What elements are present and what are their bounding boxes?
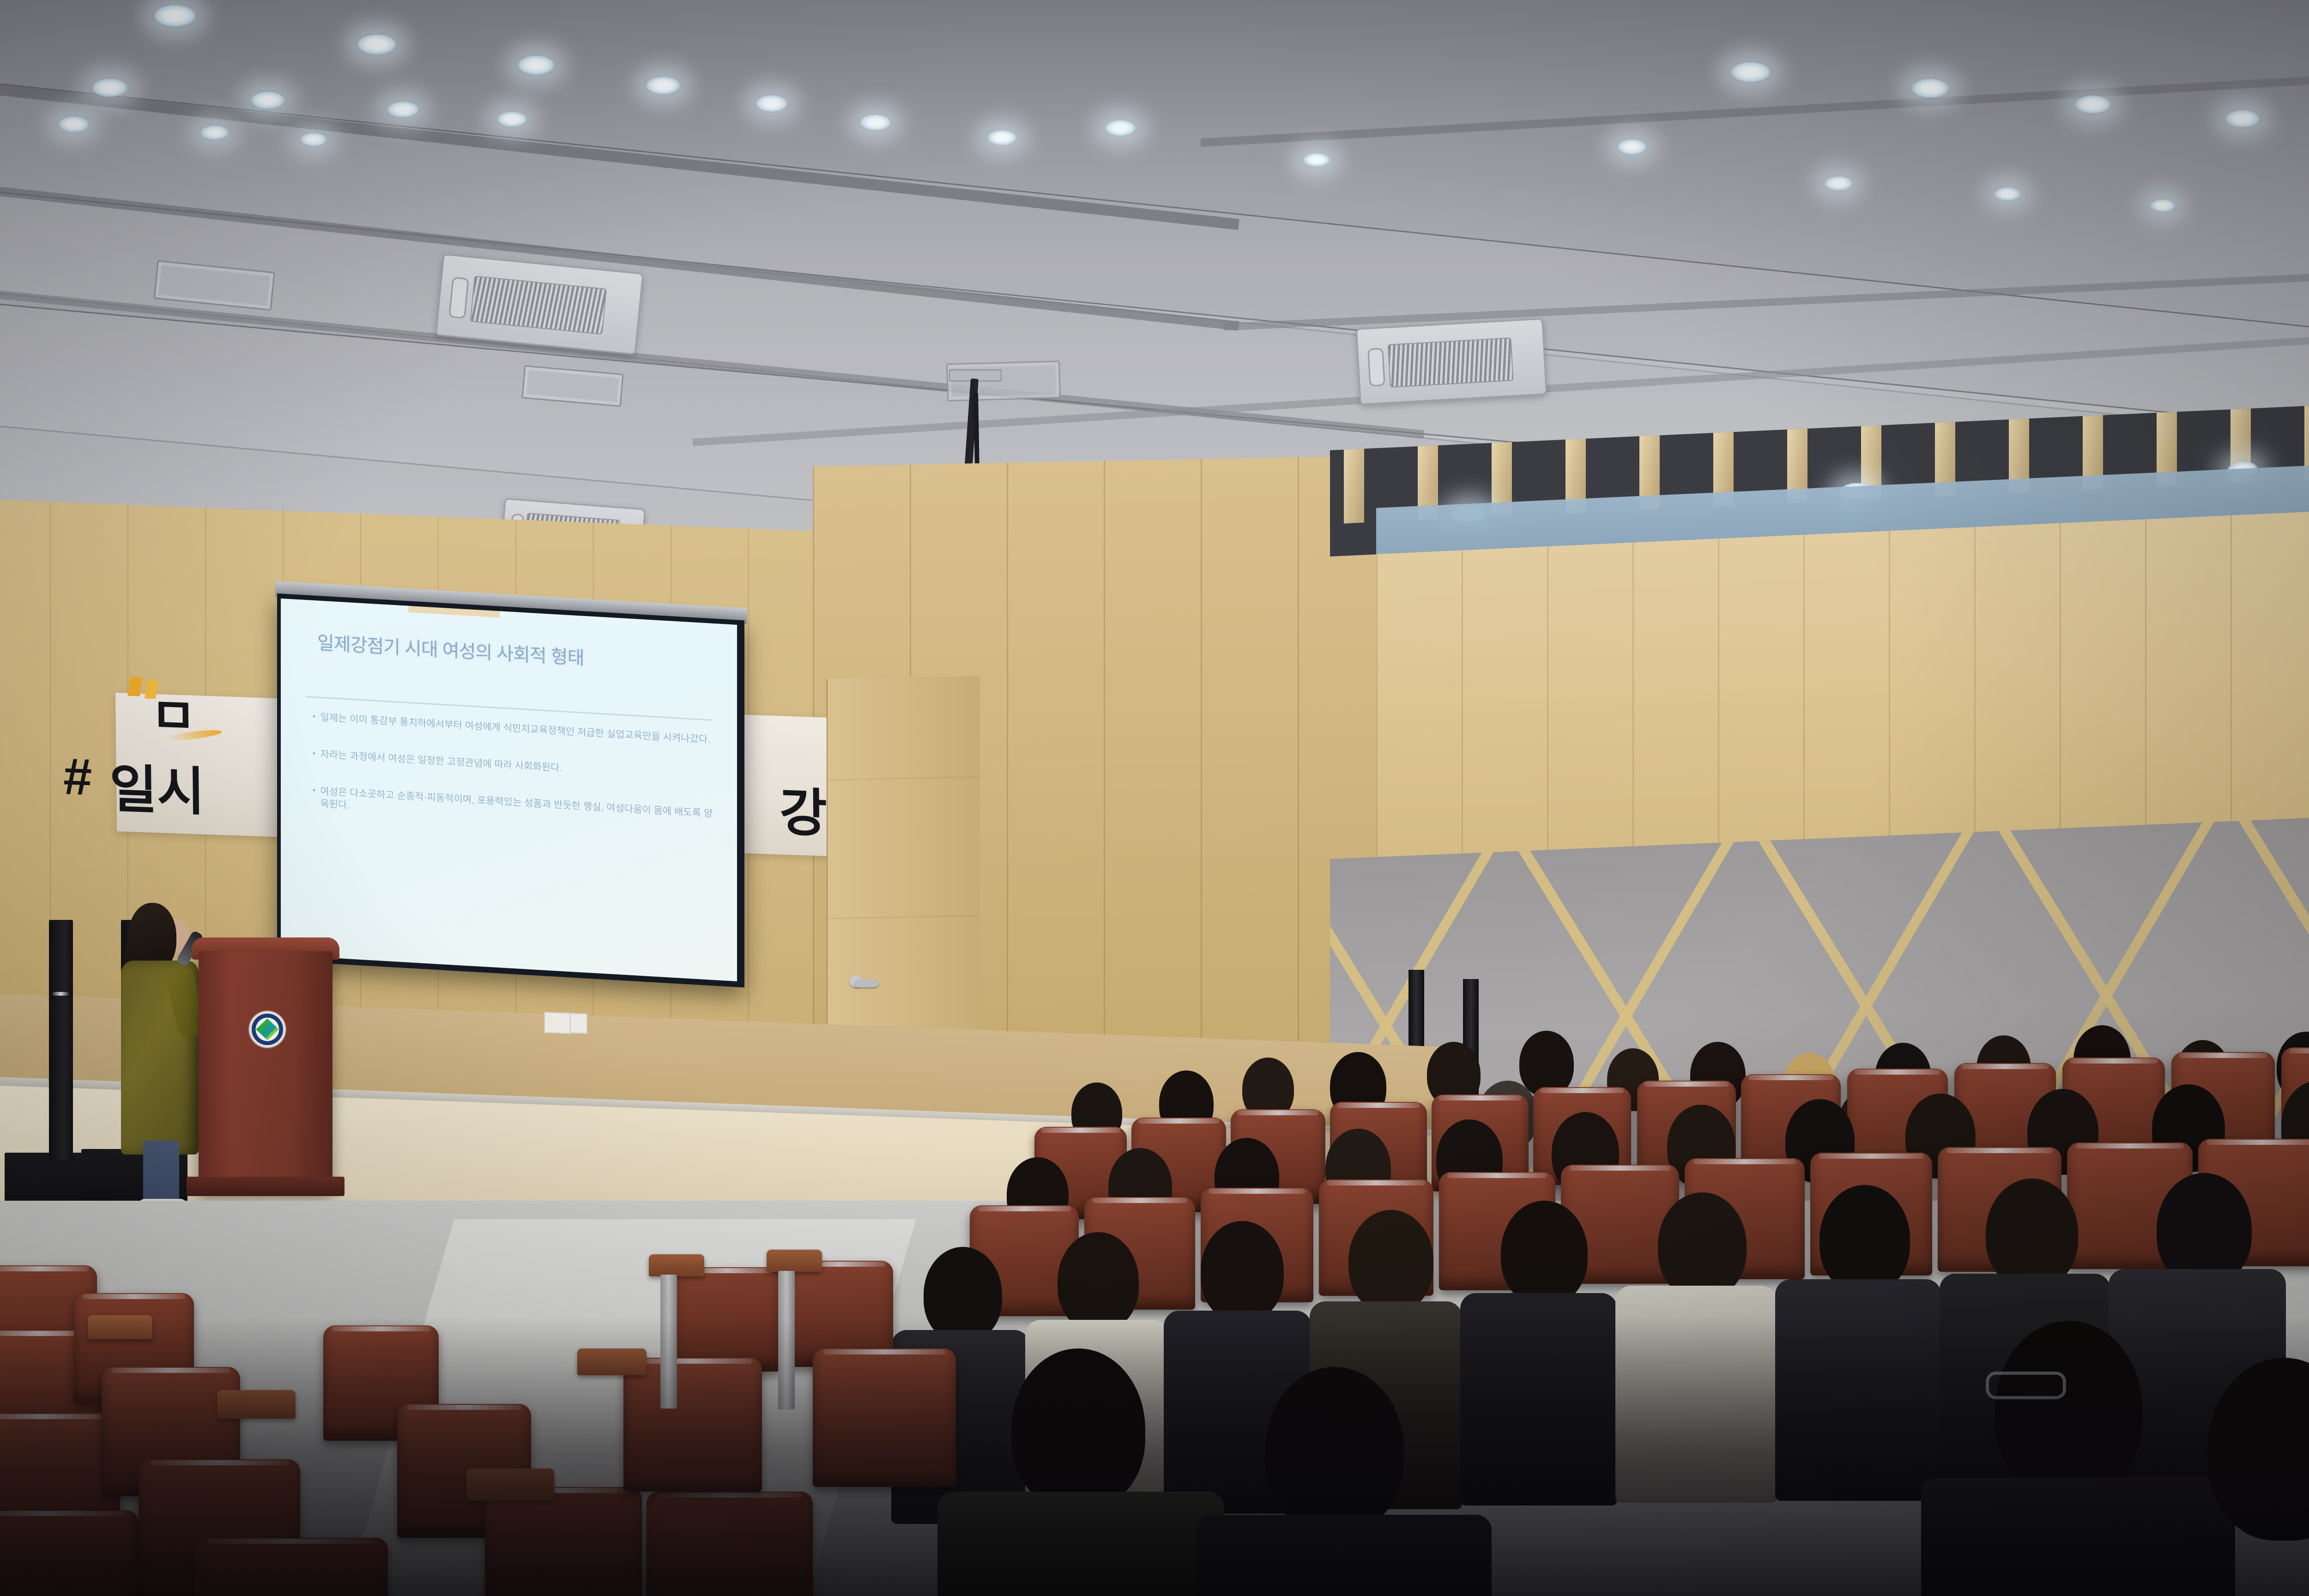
wall-outlet bbox=[570, 1013, 587, 1034]
auditorium-photo: # 일시 ㅁ 강당 일제강점기 시대 여성의 사회적 형태 • 일제는 이미 통… bbox=[0, 0, 2309, 1596]
slide-bullet: • 자라는 과정에서 여성은 일정한 고정관념에 따라 사회화된다. bbox=[313, 748, 714, 784]
door-handle[interactable] bbox=[854, 980, 878, 988]
ceiling-downlight bbox=[1910, 78, 1951, 99]
ceiling-downlight bbox=[1993, 187, 2022, 201]
ceiling-ac-unit bbox=[1356, 318, 1547, 405]
audience-head bbox=[1501, 1201, 1588, 1305]
bullet-marker-icon: • bbox=[313, 711, 315, 724]
ceiling-downlight bbox=[986, 129, 1018, 146]
pa-speaker-tower bbox=[49, 920, 73, 1160]
ceiling-downlight bbox=[2224, 109, 2261, 128]
seat-armrest bbox=[649, 1254, 704, 1276]
ceiling-downlight bbox=[386, 101, 420, 118]
ceiling-downlight bbox=[1302, 152, 1331, 167]
ceiling-downlight bbox=[645, 76, 682, 95]
ceiling-downlight bbox=[2149, 199, 2176, 212]
audience-head bbox=[1348, 1210, 1433, 1312]
projection-screen: 일제강점기 시대 여성의 사회적 형태 • 일제는 이미 통감부 통치하에서부터… bbox=[281, 598, 737, 981]
foreground-shadow-overlay bbox=[0, 1316, 2309, 1596]
ceiling-downlight bbox=[859, 114, 892, 131]
ceiling-downlight bbox=[57, 115, 91, 133]
banner-hash-symbol: # bbox=[63, 746, 92, 807]
banner-yellow-mark-icon bbox=[128, 677, 143, 696]
slide-bullet: • 여성은 다소곳하고 순종적·피동적이며, 포용력있는 성품과 반듯한 행실,… bbox=[313, 785, 714, 834]
slide-bullet-text: 자라는 과정에서 여성은 일정한 고정관념에 따라 사회화된다. bbox=[320, 748, 562, 775]
audience-head bbox=[1819, 1185, 1910, 1293]
wall-outlet bbox=[544, 1012, 572, 1034]
slide-bullet-text: 여성은 다소곳하고 순종적·피동적이며, 포용력있는 성품과 반듯한 행실, 여… bbox=[320, 785, 714, 834]
ceiling-downlight bbox=[516, 54, 556, 76]
ceiling-downlight bbox=[356, 33, 398, 55]
ceiling-downlight bbox=[1729, 61, 1772, 83]
ceiling-downlight bbox=[199, 125, 230, 140]
ceiling-downlight bbox=[152, 4, 198, 28]
ceiling-downlight bbox=[2073, 94, 2112, 115]
audience-head bbox=[1986, 1179, 2078, 1288]
slide-title: 일제강점기 시대 여성의 사회적 형태 bbox=[317, 633, 710, 677]
audience-head bbox=[1658, 1192, 1747, 1299]
podium bbox=[199, 951, 332, 1191]
bullet-marker-icon: • bbox=[313, 748, 315, 761]
ceiling-downlight bbox=[1823, 175, 1854, 191]
audience-head bbox=[1201, 1221, 1284, 1322]
bullet-marker-icon: • bbox=[313, 785, 315, 810]
school-seal-emblem-icon bbox=[249, 1011, 285, 1047]
podium-base bbox=[187, 1177, 345, 1196]
ceiling-downlight bbox=[91, 78, 129, 98]
ceiling-downlight bbox=[299, 132, 328, 147]
ceiling-downlight bbox=[755, 94, 789, 113]
ceiling-downlight bbox=[496, 111, 528, 127]
banner-text-left: 일시 bbox=[109, 747, 205, 825]
ceiling-downlight bbox=[1616, 139, 1648, 155]
ceiling-downlight bbox=[1104, 119, 1137, 137]
ceiling-downlight bbox=[249, 91, 286, 110]
slide-body: • 일제는 이미 통감부 통치하에서부터 여성에게 식민지교육정책인 저급한 실… bbox=[313, 711, 714, 857]
audience-head bbox=[1519, 1031, 1574, 1096]
seat-armrest bbox=[767, 1250, 822, 1272]
